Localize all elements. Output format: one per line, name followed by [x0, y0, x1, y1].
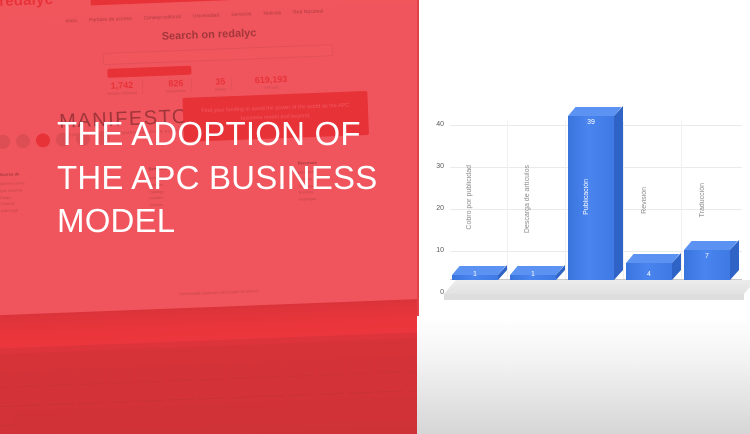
bar-chart: 40 30 20 10 0 Cobro por publicidad Desca… [422, 95, 750, 320]
y-axis-tick: 40 [424, 121, 444, 128]
bar-top [568, 107, 622, 116]
bar-descarga-de-articulos: 1 [510, 275, 556, 280]
bar-value-label: 1 [452, 271, 498, 278]
bar-value-label: 39 [568, 119, 614, 126]
y-axis-tick: 30 [424, 163, 444, 170]
bar-value-label: 7 [684, 253, 730, 260]
y-axis-tick: 10 [424, 247, 444, 254]
bar-top [626, 254, 680, 263]
category-separator [681, 121, 682, 293]
chart-floor [444, 280, 750, 294]
y-axis-tick: 20 [424, 205, 444, 212]
category-label-revision: Revisión [641, 187, 648, 214]
category-separator [623, 121, 624, 293]
title-panel: #redalyc Conoce la nueva plataforma de a… [0, 0, 417, 434]
bar-side [614, 106, 623, 280]
chart-floor-front [444, 294, 744, 300]
bar-front [568, 116, 614, 280]
chart-panel: 40 30 20 10 0 Cobro por publicidad Desca… [417, 0, 750, 434]
bar-value-label: 1 [510, 271, 556, 278]
category-label-publicacion: Publicación [583, 179, 590, 215]
category-separator [565, 121, 566, 293]
slide-title: THE ADOPTION OF THE APC BUSINESS MODEL [57, 112, 387, 243]
category-label-traduccion: Traducción [699, 183, 706, 217]
bar-top [684, 241, 738, 250]
y-axis-tick: 0 [424, 289, 444, 296]
bar-value-label: 4 [626, 271, 672, 278]
presentation-slide: #redalyc Conoce la nueva plataforma de a… [0, 0, 750, 434]
bar-traduccion: 7 [684, 250, 730, 280]
chart-plot-area: 40 30 20 10 0 Cobro por publicidad Desca… [422, 95, 750, 320]
bar-revision: 4 [626, 263, 672, 280]
category-label-descarga: Descarga de artículos [524, 165, 531, 233]
panel-gradient [417, 316, 750, 434]
bar-publicacion: 39 [568, 116, 614, 280]
category-separator [507, 121, 508, 293]
category-label-cobro: Cobro por publicidad [466, 165, 473, 230]
bar-cobro-por-publicidad: 1 [452, 275, 498, 280]
